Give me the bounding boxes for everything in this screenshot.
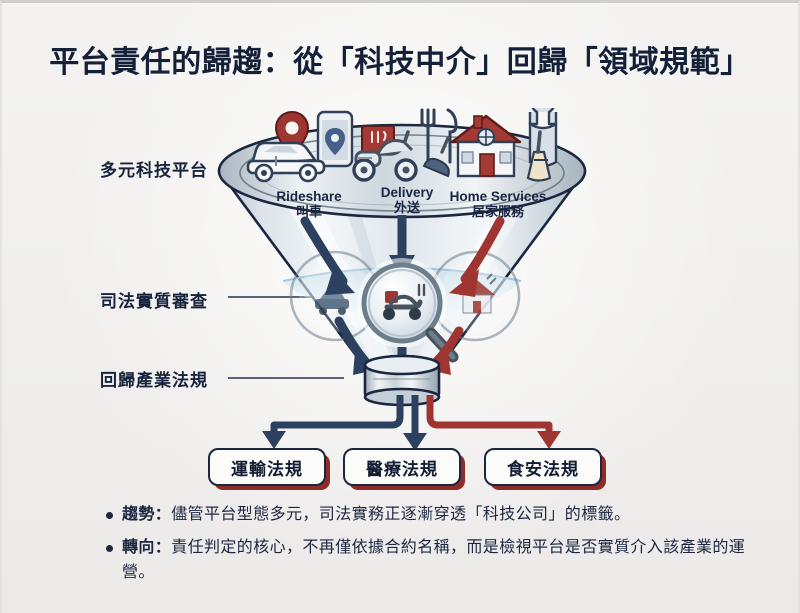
platform-label-rideshare-zh: 叫車 — [254, 205, 364, 220]
bullet-lead-trend: 趨勢： — [122, 506, 171, 523]
bullet-dot-icon — [106, 512, 113, 519]
bullet-body-trend: 儘管平台型態多元，司法實務正逐漸穿透「科技公司」的標籤。 — [171, 506, 630, 523]
bullet-list: 趨勢：儘管平台型態多元，司法實務正逐漸穿透「科技公司」的標籤。 轉向：責任判定的… — [106, 503, 746, 593]
arrow-to-transport — [274, 395, 400, 433]
platform-label-rideshare: Rideshare 叫車 — [254, 189, 364, 219]
result-box-transport: 運輸法規 — [208, 448, 326, 486]
platform-label-home-services-zh: 居家服務 — [438, 205, 558, 220]
bullet-item-trend: 趨勢：儘管平台型態多元，司法實務正逐漸穿透「科技公司」的標籤。 — [106, 503, 746, 528]
platform-label-home-services-en: Home Services — [438, 189, 558, 205]
output-arrows — [182, 395, 622, 455]
platform-label-rideshare-en: Rideshare — [254, 189, 364, 205]
bullet-lead-shift: 轉向： — [122, 539, 171, 556]
bullet-text-trend: 趨勢：儘管平台型態多元，司法實務正逐漸穿透「科技公司」的標籤。 — [122, 503, 630, 528]
bullet-item-shift: 轉向：責任判定的核心，不再僅依據合約名稱，而是檢視平台是否實質介入該產業的運營。 — [106, 536, 746, 586]
slide-canvas: 平台責任的歸趨：從「科技中介」回歸「領域規範」 多元科技平台 司法實質審查 回歸… — [0, 0, 800, 613]
platform-icons — [234, 108, 564, 186]
arrow-to-food-safety — [430, 395, 549, 433]
fork-knife-icon — [422, 110, 456, 162]
car-icon — [248, 143, 324, 181]
bullet-dot-icon — [106, 545, 113, 552]
bullet-body-shift: 責任判定的核心，不再僅依據合約名稱，而是檢視平台是否實質介入該產業的運營。 — [122, 539, 745, 581]
result-box-food-safety: 食安法規 — [484, 448, 602, 486]
smartphone-icon — [318, 112, 352, 166]
platform-label-home-services: Home Services 居家服務 — [438, 189, 558, 219]
page-title: 平台責任的歸趨：從「科技中介」回歸「領域規範」 — [2, 37, 798, 81]
bullet-text-shift: 轉向：責任判定的核心，不再僅依據合約名稱，而是檢視平台是否實質介入該產業的運營。 — [122, 536, 746, 586]
house-icon — [452, 116, 520, 176]
result-box-medical: 醫療法規 — [343, 448, 461, 486]
